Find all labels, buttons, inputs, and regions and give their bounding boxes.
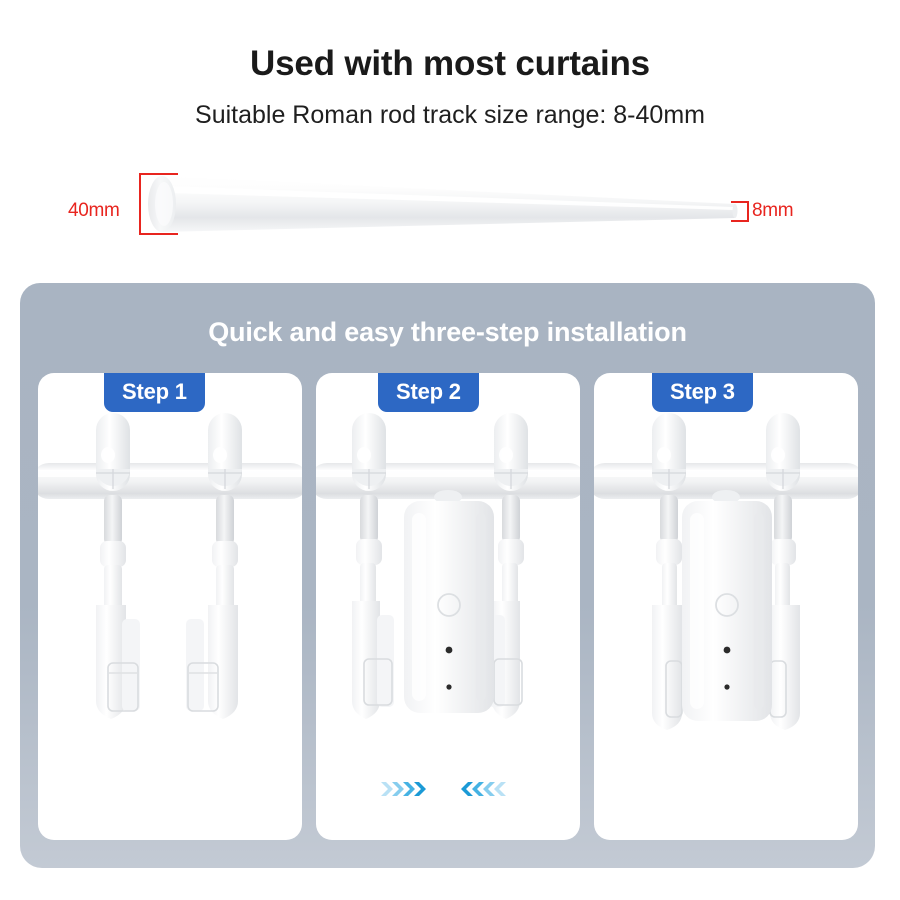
arrow-group-right — [381, 780, 435, 798]
installation-panel: Quick and easy three-step installation S… — [20, 283, 875, 868]
runner-left — [352, 413, 394, 719]
chevrons-right-icon — [381, 780, 435, 798]
arrow-group-left — [461, 780, 515, 798]
motor-device — [404, 490, 494, 713]
runner-right — [186, 413, 242, 719]
page-title: Used with most curtains — [0, 44, 900, 84]
page-subtitle: Suitable Roman rod track size range: 8-4… — [0, 101, 900, 130]
runner-left — [96, 413, 140, 719]
step-2-illustration — [316, 373, 580, 840]
rod-size-diagram: 40mm 8mm — [0, 160, 900, 265]
motor-device — [682, 490, 772, 721]
step-card-1[interactable]: Step 1 — [38, 373, 302, 840]
product-infographic: Used with most curtains Suitable Roman r… — [0, 0, 900, 900]
rod-small-end-label: 8mm — [752, 200, 793, 222]
panel-title: Quick and easy three-step installation — [20, 317, 875, 348]
step-card-3[interactable]: Step 3 — [594, 373, 858, 840]
step-cards-container: Step 1 — [38, 373, 858, 840]
step-card-2[interactable]: Step 2 — [316, 373, 580, 840]
rod-large-end-label: 40mm — [68, 200, 120, 222]
step-3-illustration — [594, 373, 858, 840]
direction-arrows — [316, 780, 580, 798]
step-1-illustration — [38, 373, 302, 840]
runner-left — [652, 413, 686, 609]
chevrons-left-icon — [461, 780, 515, 798]
